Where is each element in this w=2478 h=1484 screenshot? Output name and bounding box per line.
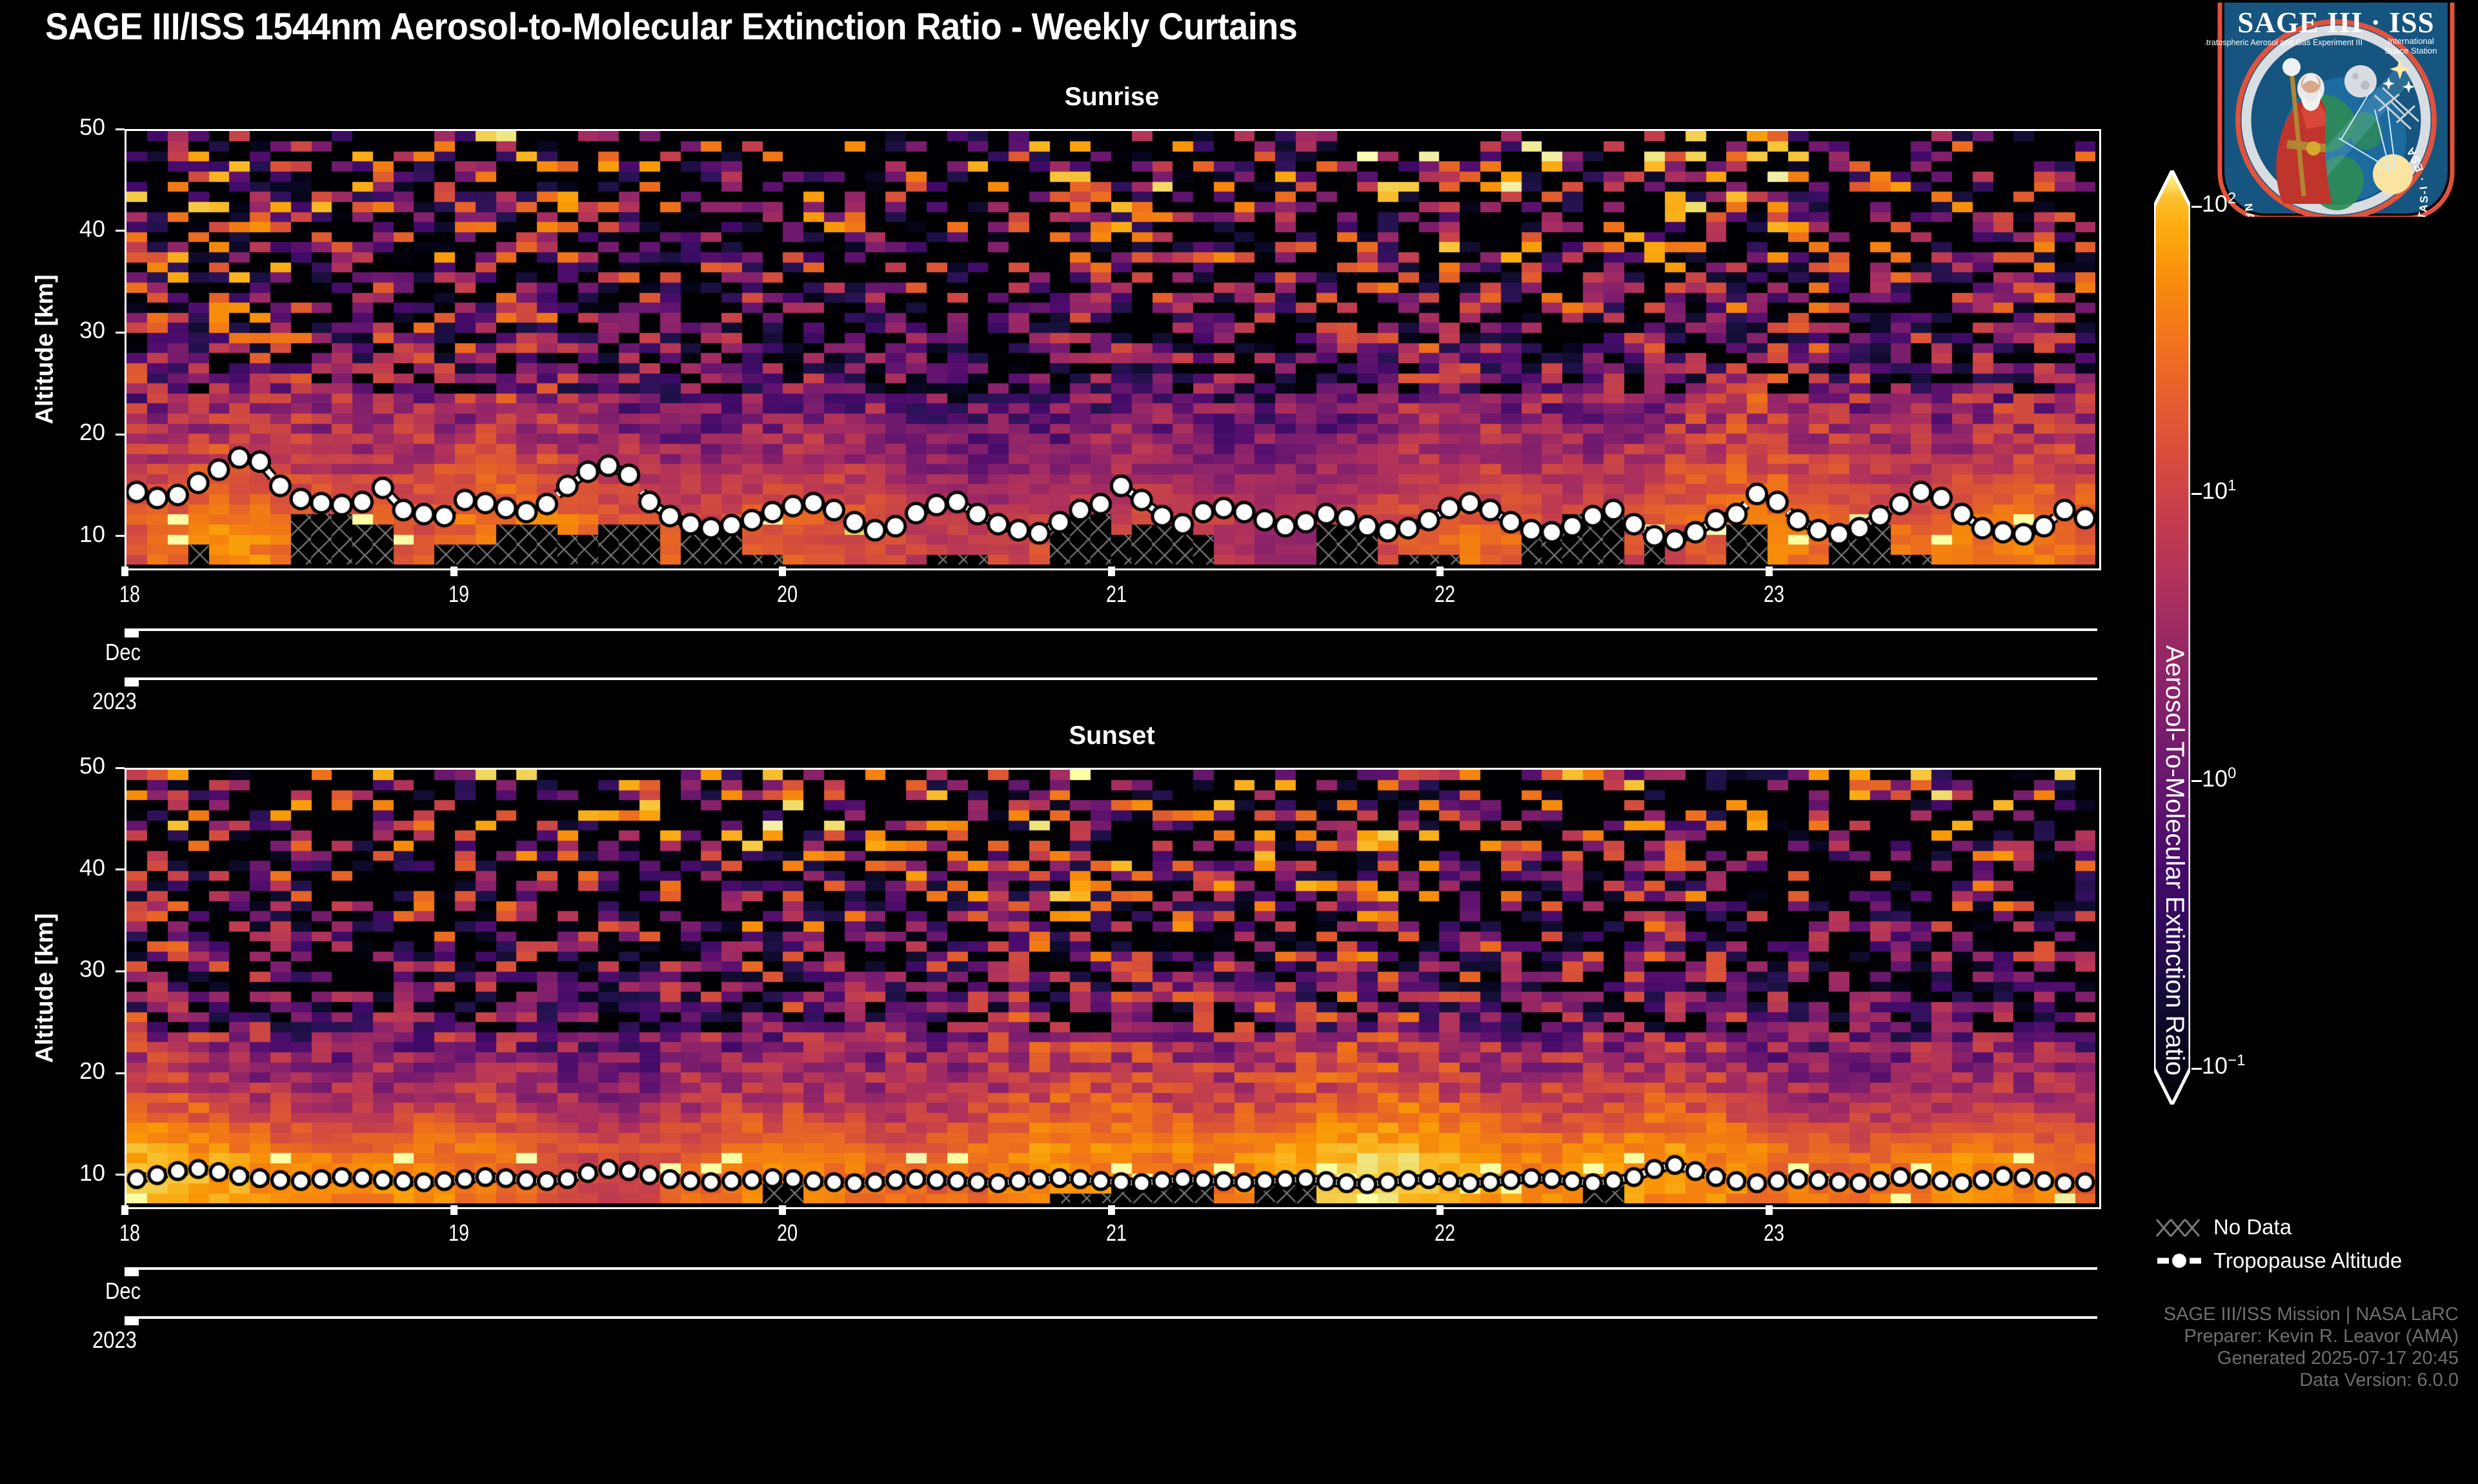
dashed-circle-line-icon bbox=[2155, 1247, 2203, 1275]
x-axis-month-rule-sunset bbox=[125, 1267, 2097, 1270]
y-tick-label-sunrise-40: 40 bbox=[28, 216, 105, 243]
x-tick-mark-sunrise-18 bbox=[121, 567, 128, 576]
y-tick-mark-sunset-50 bbox=[116, 767, 125, 769]
x-tick-label-sunset-19: 19 bbox=[448, 1219, 469, 1247]
x-tick-label-sunset-18: 18 bbox=[119, 1219, 140, 1247]
y-tick-mark-sunset-20 bbox=[116, 1072, 125, 1074]
x-tick-mark-sunset-19 bbox=[450, 1205, 458, 1215]
colorbar-tick-mark-10 bbox=[2191, 493, 2202, 495]
colorbar-tick-label-10: 101 bbox=[2202, 477, 2236, 505]
y-tick-label-sunrise-10: 10 bbox=[28, 521, 105, 548]
x-tick-mark-sunrise-20 bbox=[779, 567, 786, 576]
footer-line-version: Data Version: 6.0.0 bbox=[1639, 1369, 2459, 1391]
svg-text:International: International bbox=[2388, 36, 2434, 46]
x-tick-label-sunrise-21: 21 bbox=[1106, 581, 1127, 608]
legend-label-tropopause: Tropopause Altitude bbox=[2213, 1248, 2402, 1273]
colorbar-tick-label-100: 102 bbox=[2202, 190, 2236, 217]
x-tick-label-sunset-21: 21 bbox=[1106, 1219, 1127, 1247]
y-tick-label-sunset-40: 40 bbox=[28, 854, 105, 881]
svg-text:Space Station: Space Station bbox=[2385, 46, 2437, 55]
x-tick-label-sunrise-20: 20 bbox=[777, 581, 798, 608]
y-tick-mark-sunset-30 bbox=[116, 970, 125, 972]
x-tick-mark-sunset-22 bbox=[1436, 1205, 1444, 1215]
panel-title-sunrise: Sunrise bbox=[125, 83, 2099, 112]
legend: No Data Tropopause Altitude bbox=[2155, 1210, 2478, 1278]
y-tick-label-sunrise-50: 50 bbox=[28, 114, 105, 141]
y-tick-mark-sunrise-10 bbox=[116, 535, 125, 537]
colorbar-tick-label-1: 100 bbox=[2202, 765, 2236, 792]
x-tick-label-sunrise-23: 23 bbox=[1764, 581, 1784, 608]
colorbar-tick-mark-1 bbox=[2191, 780, 2202, 782]
footer-line-preparer: Preparer: Kevin R. Leavor (AMA) bbox=[1639, 1325, 2459, 1347]
legend-label-no-data: No Data bbox=[2213, 1215, 2292, 1239]
y-tick-label-sunset-30: 30 bbox=[28, 956, 105, 983]
page-title: SAGE III/ISS 1544nm Aerosol-to-Molecular… bbox=[45, 5, 1606, 52]
y-tick-mark-sunset-10 bbox=[116, 1174, 125, 1176]
heatmap-canvas-sunset bbox=[126, 770, 2095, 1203]
x-axis-month-label-sunset: Dec bbox=[105, 1278, 141, 1305]
y-tick-mark-sunrise-40 bbox=[116, 230, 125, 232]
heatmap-panel-sunrise[interactable] bbox=[125, 129, 2101, 570]
x-tick-mark-sunrise-22 bbox=[1436, 567, 1444, 576]
x-tick-mark-sunrise-23 bbox=[1766, 567, 1773, 576]
x-tick-mark-sunset-18 bbox=[121, 1205, 128, 1215]
colorbar-tick-mark-100 bbox=[2191, 206, 2202, 208]
hatch-x-icon bbox=[2155, 1213, 2203, 1241]
x-axis-month-tick-sunset bbox=[125, 1268, 139, 1276]
x-tick-label-sunset-20: 20 bbox=[777, 1219, 798, 1247]
x-tick-mark-sunset-21 bbox=[1108, 1205, 1115, 1215]
svg-text:SAGE III · ISS: SAGE III · ISS bbox=[2237, 6, 2434, 39]
x-tick-mark-sunset-23 bbox=[1766, 1205, 1773, 1215]
y-tick-label-sunset-10: 10 bbox=[28, 1159, 105, 1187]
y-tick-mark-sunrise-20 bbox=[116, 434, 125, 436]
sage-iii-iss-mission-patch-logo: BALL · NASA LANGLEY RESEARCH CENTER · TA… bbox=[2206, 3, 2466, 217]
heatmap-panel-sunset[interactable] bbox=[125, 768, 2101, 1209]
footer-line-generated: Generated 2025-07-17 20:45 bbox=[1639, 1347, 2459, 1369]
legend-item-tropopause[interactable]: Tropopause Altitude bbox=[2155, 1244, 2478, 1278]
y-tick-label-sunrise-30: 30 bbox=[28, 317, 105, 344]
y-tick-mark-sunset-40 bbox=[116, 868, 125, 870]
x-axis-year-label-sunrise: 2023 bbox=[92, 688, 137, 715]
y-tick-label-sunrise-20: 20 bbox=[28, 419, 105, 446]
y-tick-label-sunset-50: 50 bbox=[28, 752, 105, 779]
x-tick-mark-sunrise-21 bbox=[1108, 567, 1115, 576]
x-axis-month-label-sunrise: Dec bbox=[105, 639, 141, 666]
y-tick-mark-sunrise-50 bbox=[116, 128, 125, 130]
x-tick-mark-sunset-20 bbox=[779, 1205, 786, 1215]
x-axis-year-rule-sunrise bbox=[125, 677, 2097, 680]
panel-title-sunset: Sunset bbox=[125, 721, 2099, 750]
x-axis-year-tick-sunrise bbox=[125, 679, 139, 687]
colorbar-tick-label-0.1: 10−1 bbox=[2202, 1052, 2245, 1079]
x-tick-label-sunset-23: 23 bbox=[1764, 1219, 1784, 1247]
svg-text:Stratospheric Aerosol and Gas: Stratospheric Aerosol and Gas Experiment… bbox=[2206, 38, 2362, 47]
footer-credits: SAGE III/ISS Mission | NASA LaRC Prepare… bbox=[1639, 1303, 2459, 1391]
x-axis-month-tick-sunrise bbox=[125, 630, 139, 637]
colorbar-tick-mark-0.1 bbox=[2191, 1068, 2202, 1070]
x-axis-year-tick-sunset bbox=[125, 1318, 139, 1325]
x-axis-month-rule-sunrise bbox=[125, 628, 2097, 631]
heatmap-canvas-sunrise bbox=[126, 131, 2095, 565]
x-tick-mark-sunrise-19 bbox=[450, 567, 458, 576]
footer-line-mission: SAGE III/ISS Mission | NASA LaRC bbox=[1639, 1303, 2459, 1325]
x-tick-label-sunrise-22: 22 bbox=[1435, 581, 1455, 608]
y-tick-label-sunset-20: 20 bbox=[28, 1058, 105, 1085]
y-tick-mark-sunrise-30 bbox=[116, 332, 125, 334]
x-tick-label-sunrise-18: 18 bbox=[119, 581, 140, 608]
x-tick-label-sunrise-19: 19 bbox=[448, 581, 469, 608]
x-axis-year-label-sunset: 2023 bbox=[92, 1327, 137, 1354]
legend-item-no-data[interactable]: No Data bbox=[2155, 1210, 2478, 1244]
x-tick-label-sunset-22: 22 bbox=[1435, 1219, 1455, 1247]
